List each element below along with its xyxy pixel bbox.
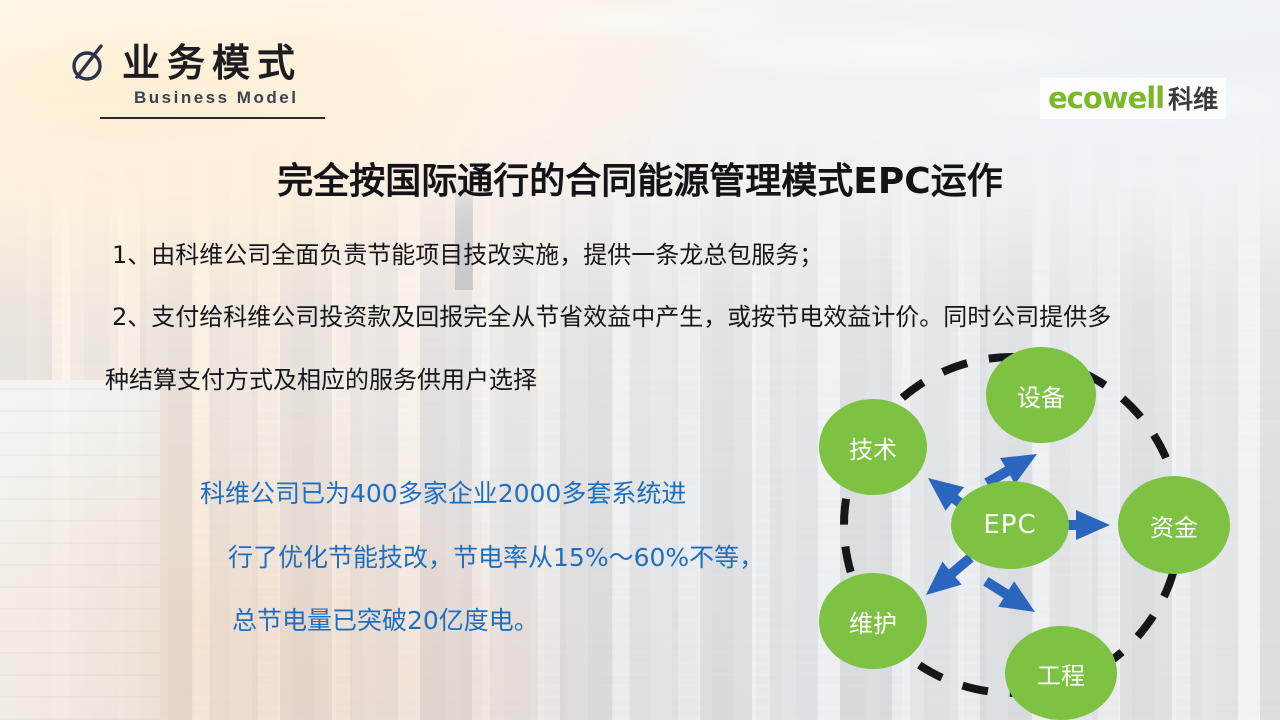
highlight-line-1: 科维公司已为400多家企业2000多套系统进 xyxy=(200,474,686,510)
slide-header: 业务模式 Business Model xyxy=(0,0,420,130)
epc-cycle-diagram: EPC 技术 设备 资金 工程 维护 xyxy=(790,330,1260,720)
logo-text-cn: 科维 xyxy=(1168,80,1218,116)
node-maintenance[interactable]: 维护 xyxy=(819,573,927,669)
bullet-item-2-cont: 种结算支付方式及相应的服务供用户选择 xyxy=(105,360,537,395)
node-equipment[interactable]: 设备 xyxy=(986,347,1096,443)
node-capital-label: 资金 xyxy=(1150,508,1198,543)
node-maintenance-label: 维护 xyxy=(849,604,897,639)
page-title: 业务模式 xyxy=(122,32,302,87)
node-capital[interactable]: 资金 xyxy=(1118,476,1230,574)
node-technology-label: 技术 xyxy=(849,430,897,465)
bullet-item-2: 2、支付给科维公司投资款及回报完全从节省效益中产生，或按节电效益计价。同时公司提… xyxy=(112,297,1111,332)
logo-text-en: ecowell xyxy=(1048,81,1164,115)
node-engineering-label: 工程 xyxy=(1037,656,1085,691)
node-equipment-label: 设备 xyxy=(1017,378,1065,413)
highlight-line-3: 总节电量已突破20亿度电。 xyxy=(232,601,539,637)
node-epc[interactable]: EPC xyxy=(951,481,1069,569)
circle-slash-icon xyxy=(68,40,110,86)
highlight-line-2: 行了优化节能技改，节电率从15%～60%不等， xyxy=(228,538,764,574)
page-subtitle: Business Model xyxy=(134,88,298,108)
slide-canvas: 业务模式 Business Model ecowell 科维 完全按国际通行的合… xyxy=(0,0,1280,720)
node-epc-label: EPC xyxy=(983,510,1036,540)
ecowell-logo: ecowell 科维 xyxy=(1040,78,1226,119)
header-divider xyxy=(100,117,325,119)
main-title: 完全按国际通行的合同能源管理模式EPC运作 xyxy=(0,152,1280,204)
node-technology[interactable]: 技术 xyxy=(819,399,927,495)
arrow-from-engineering xyxy=(978,569,1043,625)
bullet-item-1: 1、由科维公司全面负责节能项目技改实施，提供一条龙总包服务； xyxy=(112,235,823,270)
node-engineering[interactable]: 工程 xyxy=(1005,626,1117,720)
